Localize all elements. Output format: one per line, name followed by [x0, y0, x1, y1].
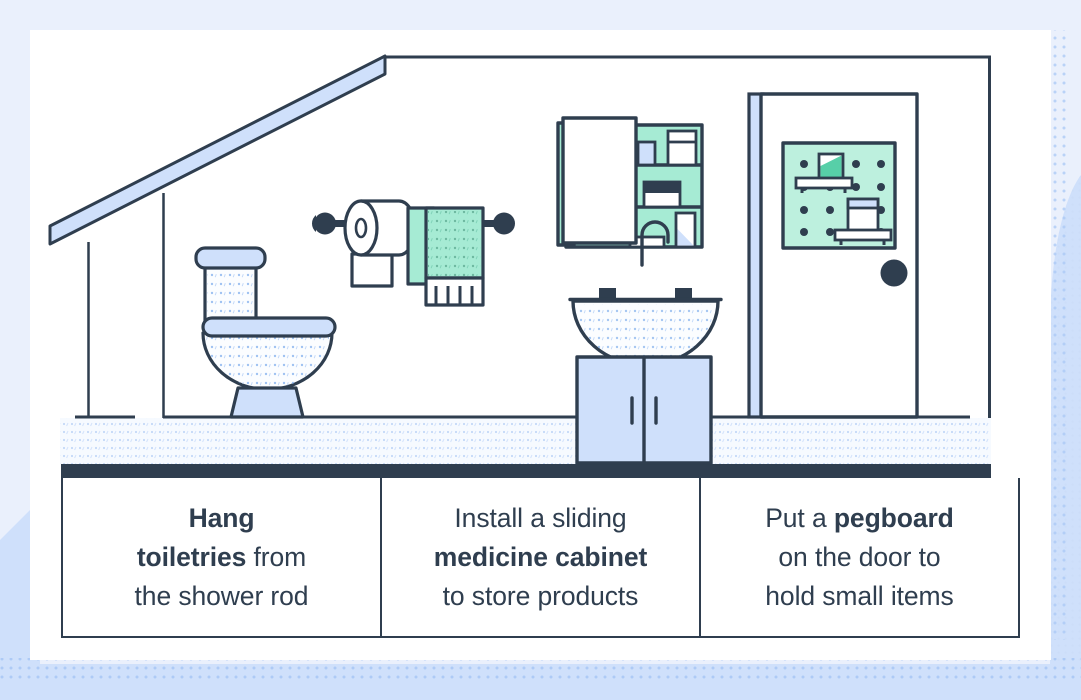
- hanging-towel: [408, 208, 483, 305]
- cabinet-item-box-white: [668, 131, 696, 165]
- deco-bottom-dot-band: [0, 658, 1081, 700]
- caption-cell-shower-rod: Hangtoiletries fromthe shower rod: [63, 478, 382, 636]
- cabinet-item-box-dark: [644, 182, 680, 207]
- caption-medicine-cabinet-text: Install a slidingmedicine cabinetto stor…: [434, 499, 647, 616]
- pegboard: [783, 143, 895, 248]
- toilet: [196, 248, 335, 417]
- caption-cell-pegboard: Put a pegboardon the door tohold small i…: [701, 478, 1018, 636]
- caption-cell-medicine-cabinet: Install a slidingmedicine cabinetto stor…: [382, 478, 701, 636]
- wall-studs: [89, 193, 164, 418]
- vanity-cabinet: [577, 357, 711, 463]
- sloped-roof: [50, 56, 385, 244]
- floor: [60, 417, 991, 464]
- cabinet-item-bottle-blue: [638, 142, 655, 165]
- toilet-paper-roll: [345, 201, 415, 286]
- caption-shower-rod-text: Hangtoiletries fromthe shower rod: [135, 499, 309, 616]
- doorknob: [881, 260, 908, 287]
- caption-pegboard-text: Put a pegboardon the door tohold small i…: [765, 499, 954, 616]
- cabinet-item-bottle-tall: [676, 213, 695, 247]
- caption-row: Hangtoiletries fromthe shower rod Instal…: [61, 478, 1020, 638]
- sliding-medicine-cabinet: [558, 118, 702, 247]
